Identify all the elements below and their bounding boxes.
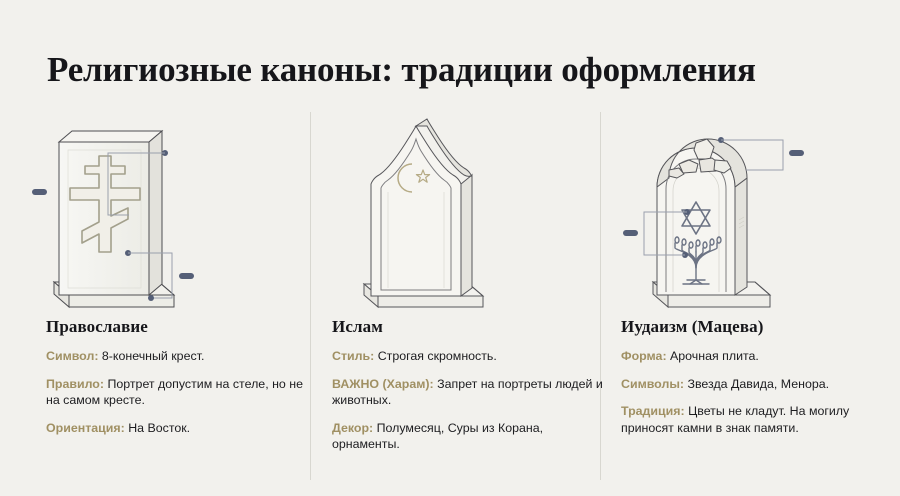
fact-orthodox-1: Правило: Портрет допустим на стеле, но н… [24,376,309,409]
fact-islam-0: Стиль: Строгая скромность. [326,348,611,365]
fact-key: ВАЖНО (Харам): [332,377,434,391]
fact-islam-2: Декор: Полумесяц, Суры из Корана, орнаме… [326,420,611,453]
page-title: Религиозные каноны: традиции оформления [47,50,867,90]
fact-key: Правило: [46,377,104,391]
column-islam: Ислам Стиль: Строгая скромность. ВАЖНО (… [326,112,611,484]
column-judaism: Иудаизм (Мацева) Форма: Арочная плита. С… [615,112,900,484]
fact-value: 8-конечный крест. [102,349,205,363]
infographic-page: Религиозные каноны: традиции оформления [0,0,900,496]
fact-orthodox-2: Ориентация: На Восток. [24,420,309,437]
jewish-matzevah-illustration [615,112,900,317]
fact-value: Арочная плита. [670,349,759,363]
callout-pill-symbols [623,230,638,236]
fact-key: Символ: [46,349,98,363]
islamic-stele-illustration [326,112,611,317]
fact-value: Звезда Давида, Менора. [687,377,829,391]
fact-key: Декор: [332,421,373,435]
fact-value: На Восток. [128,421,190,435]
fact-value: Строгая скромность. [378,349,497,363]
column-divider-1 [310,112,311,480]
column-heading-islam: Ислам [326,317,611,337]
callout-pill-cross [32,189,47,195]
column-orthodox: Православие Символ: 8-конечный крест. Пр… [24,112,309,484]
callout-pill-base [179,273,194,279]
column-heading-orthodox: Православие [24,317,309,337]
fact-orthodox-0: Символ: 8-конечный крест. [24,348,309,365]
fact-key: Стиль: [332,349,374,363]
fact-key: Форма: [621,349,667,363]
fact-key: Ориентация: [46,421,125,435]
callout-pill-stones [789,150,804,156]
fact-key: Символы: [621,377,684,391]
fact-key: Традиция: [621,404,685,418]
fact-judaism-1: Символы: Звезда Давида, Менора. [615,376,900,393]
fact-judaism-2: Традиция: Цветы не кладут. На могилу при… [615,403,900,436]
fact-islam-1: ВАЖНО (Харам): Запрет на портреты людей … [326,376,611,409]
orthodox-stele-illustration [24,112,309,317]
fact-judaism-0: Форма: Арочная плита. [615,348,900,365]
column-heading-judaism: Иудаизм (Мацева) [615,317,900,337]
